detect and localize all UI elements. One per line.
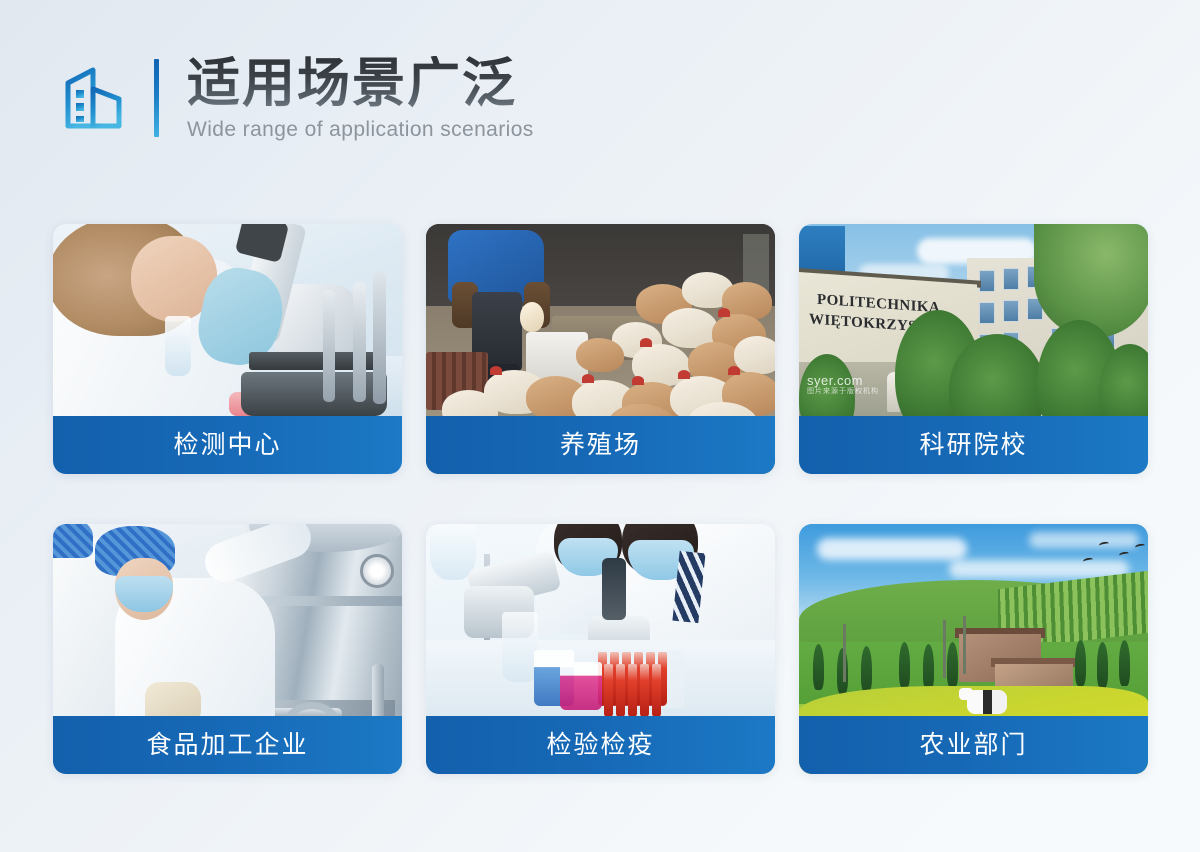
scenario-card-grid: 检测中心 — [53, 224, 1147, 774]
card-label: 养殖场 — [560, 433, 641, 458]
card-caption-bar: 检测中心 — [53, 416, 402, 474]
card-label: 检验检疫 — [546, 733, 654, 758]
card-caption-bar: 检验检疫 — [426, 716, 775, 774]
card-label: 科研院校 — [919, 433, 1027, 458]
card-caption-bar: 养殖场 — [426, 416, 775, 474]
card-label: 农业部门 — [919, 733, 1027, 758]
building-icon — [60, 62, 132, 134]
card-caption-bar: 食品加工企业 — [53, 716, 402, 774]
card-label: 食品加工企业 — [146, 733, 308, 758]
scenario-card-inspection-quarantine[interactable]: 检验检疫 — [426, 524, 775, 774]
scenario-card-food-processing[interactable]: 食品加工企业 — [53, 524, 402, 774]
scenario-card-agriculture-department[interactable]: 农业部门 — [799, 524, 1148, 774]
header-text-block: 适用场景广泛 Wide range of application scenari… — [187, 56, 534, 141]
watermark-subtext: 图片来源于版权机构 — [807, 388, 879, 396]
card-caption-bar: 农业部门 — [799, 716, 1148, 774]
card-caption-bar: 科研院校 — [799, 416, 1148, 474]
header-accent-divider — [154, 59, 159, 137]
card-label: 检测中心 — [173, 433, 281, 458]
scenario-card-breeding-farm[interactable]: 养殖场 — [426, 224, 775, 474]
page-title: 适用场景广泛 — [187, 56, 534, 112]
scenario-card-research-institute[interactable]: POLITECHNIKA WIĘTOKRZYSKA syer.com 图片来源于… — [799, 224, 1148, 474]
page-header: 适用场景广泛 Wide range of application scenari… — [60, 56, 534, 141]
image-watermark: syer.com 图片来源于版权机构 — [807, 374, 879, 396]
watermark-text: syer.com — [807, 373, 863, 388]
scenario-card-detection-center[interactable]: 检测中心 — [53, 224, 402, 474]
page-subtitle: Wide range of application scenarios — [187, 118, 534, 141]
